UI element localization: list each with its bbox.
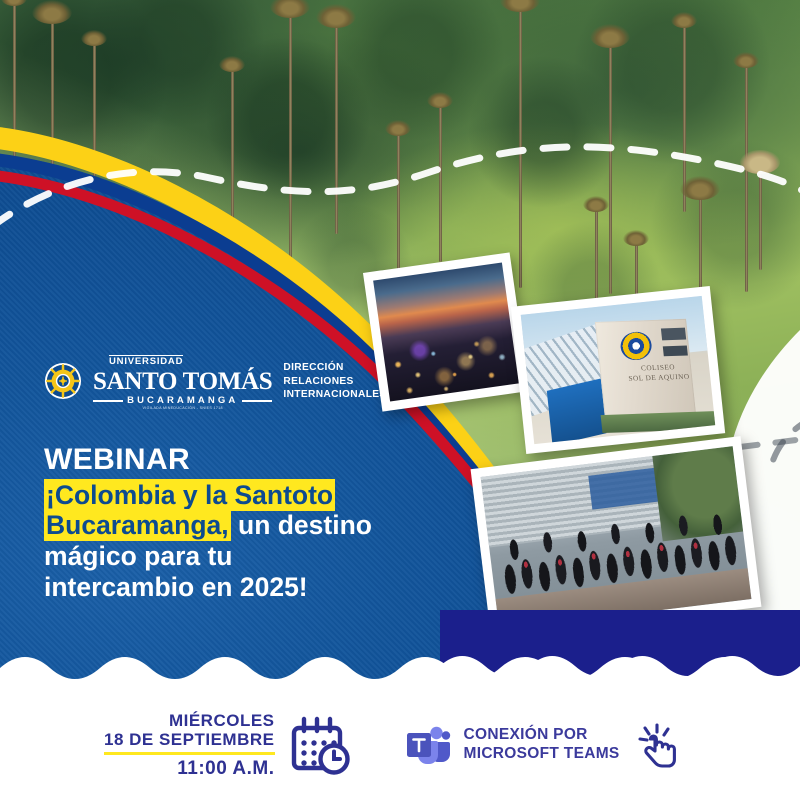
- headline-text: ¡Colombia y la Santoto Bucaramanga, un d…: [44, 480, 444, 603]
- coliseo-caption: COLISEOSOL DE AQUINO: [617, 362, 699, 386]
- platform-line-1: CONEXIÓN POR: [464, 726, 620, 745]
- date-underline: [104, 752, 275, 755]
- department-line-1: DIRECCIÓN: [283, 361, 386, 374]
- wave-divider: [0, 650, 800, 690]
- headline-highlight-1: ¡Colombia y la Santoto: [44, 479, 335, 511]
- webinar-poster: COLISEOSOL DE AQUINO: [0, 0, 800, 800]
- headline-block: WEBINAR ¡Colombia y la Santoto Bucaraman…: [44, 444, 444, 602]
- date-time-block: MIÉRCOLES 18 DE SEPTIEMBRE 11:00 A.M.: [104, 711, 351, 779]
- footer-bar: MIÉRCOLES 18 DE SEPTIEMBRE 11:00 A.M.: [0, 690, 800, 800]
- department-line-3: INTERNACIONALES: [283, 388, 386, 401]
- photo-card-city: [363, 252, 529, 411]
- date-text: MIÉRCOLES 18 DE SEPTIEMBRE 11:00 A.M.: [104, 711, 275, 779]
- calendar-clock-icon: [289, 714, 351, 776]
- photo-card-coliseo: COLISEOSOL DE AQUINO: [511, 286, 725, 454]
- headline-line-4: intercambio en 2025!: [44, 572, 444, 603]
- wordmark-accreditation: VIGILADA MINEDUCACIÓN - SNIES 1718: [93, 407, 272, 411]
- platform-line-2: MICROSOFT TEAMS: [464, 745, 620, 764]
- headline-highlight-2: Bucaramanga,: [44, 509, 231, 541]
- photo-bucaramanga-city-at-dusk: [373, 263, 519, 402]
- wordmark-universidad: UNIVERSIDAD: [109, 355, 183, 367]
- headline-kicker: WEBINAR: [44, 444, 444, 476]
- headline-rest-2: un destino: [231, 510, 372, 540]
- event-day: MIÉRCOLES: [104, 711, 275, 730]
- event-time: 11:00 A.M.: [104, 758, 275, 779]
- santo-tomas-sun-emblem: [44, 362, 82, 400]
- university-logo-block: UNIVERSIDAD SANTO TOMÁS BUCARAMANGA VIGI…: [44, 352, 387, 411]
- headline-line-3: mágico para tu: [44, 541, 444, 572]
- photo-coliseo-sol-de-aquino: COLISEOSOL DE AQUINO: [521, 296, 716, 444]
- wordmark-name: SANTO TOMÁS: [93, 369, 272, 394]
- wordmark-city: BUCARAMANGA: [93, 396, 272, 406]
- department-label: DIRECCIÓN RELACIONES INTERNACIONALES: [283, 361, 386, 401]
- department-line-2: RELACIONES: [283, 375, 386, 388]
- event-date: 18 DE SEPTIEMBRE: [104, 730, 275, 749]
- platform-block: CONEXIÓN POR MICROSOFT TEAMS: [403, 722, 681, 768]
- platform-text: CONEXIÓN POR MICROSOFT TEAMS: [464, 726, 620, 763]
- microsoft-teams-logo: [403, 723, 451, 767]
- click-hand-icon: [633, 722, 681, 768]
- university-wordmark: UNIVERSIDAD SANTO TOMÁS BUCARAMANGA VIGI…: [93, 352, 272, 411]
